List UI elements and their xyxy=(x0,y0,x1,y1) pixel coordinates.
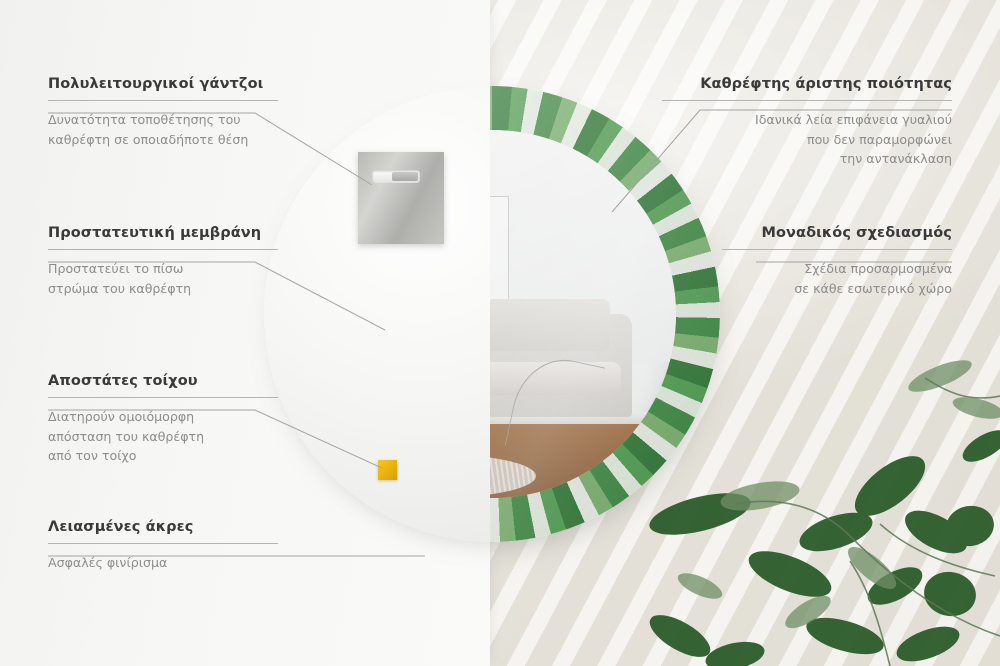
callout-spacers: Αποστάτες τοίχου Διατηρούν ομοιόμορφηαπό… xyxy=(48,373,278,465)
callout-quality: Καθρέφτης άριστης ποιότητας Ιδανικά λεία… xyxy=(662,76,952,168)
callout-edges-rule xyxy=(48,543,278,544)
callout-design-body: Σχέδια προσαρμοσμένασε κάθε εσωτερικό χώ… xyxy=(722,259,952,297)
callout-hooks-title: Πολυλειτουργικοί γάντζοι xyxy=(48,76,278,93)
callout-hooks: Πολυλειτουργικοί γάντζοι Δυνατότητα τοπο… xyxy=(48,76,278,149)
callout-design-rule xyxy=(722,249,952,250)
callout-design: Μοναδικός σχεδιασμός Σχέδια προσαρμοσμέν… xyxy=(722,225,952,298)
callout-membrane-body: Προστατεύει το πίσωστρώμα του καθρέφτη xyxy=(48,259,278,297)
callout-spacers-title: Αποστάτες τοίχου xyxy=(48,373,278,390)
callout-edges-title: Λειασμένες άκρες xyxy=(48,519,278,536)
callout-quality-body: Ιδανικά λεία επιφάνεια γυαλιούπου δεν πα… xyxy=(662,110,952,167)
callout-membrane-rule xyxy=(48,249,278,250)
callout-membrane: Προστατευτική μεμβράνη Προστατεύει το πί… xyxy=(48,225,278,298)
callout-membrane-title: Προστατευτική μεμβράνη xyxy=(48,225,278,242)
callout-quality-title: Καθρέφτης άριστης ποιότητας xyxy=(662,76,952,93)
callout-spacers-rule xyxy=(48,397,278,398)
callout-spacers-body: Διατηρούν ομοιόμορφηαπόσταση του καθρέφτ… xyxy=(48,407,278,464)
callout-edges-body: Ασφαλές φινίρισμα xyxy=(48,553,278,572)
callout-hooks-rule xyxy=(48,100,278,101)
callout-hooks-body: Δυνατότητα τοποθέτησης τουκαθρέφτη σε οπ… xyxy=(48,110,278,148)
callout-quality-rule xyxy=(662,100,952,101)
callout-design-title: Μοναδικός σχεδιασμός xyxy=(722,225,952,242)
infographic-canvas: Πολυλειτουργικοί γάντζοι Δυνατότητα τοπο… xyxy=(0,0,1000,666)
callout-edges: Λειασμένες άκρες Ασφαλές φινίρισμα xyxy=(48,519,278,573)
